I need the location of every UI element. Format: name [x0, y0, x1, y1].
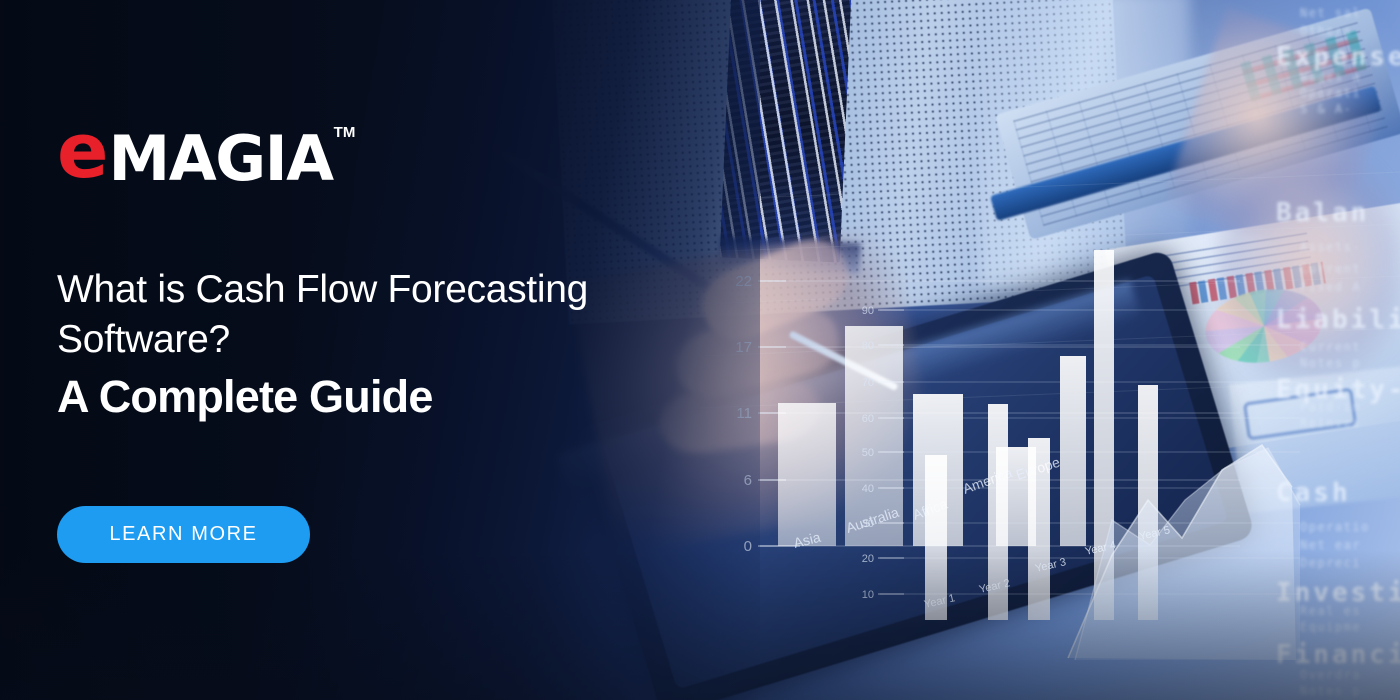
- hero-content: e MAGIA TM What is Cash Flow Forecasting…: [0, 0, 760, 700]
- emagia-logo[interactable]: e MAGIA TM: [57, 118, 355, 191]
- logo-initial-e: e: [57, 118, 108, 183]
- finance-term-0: Net sal: [1300, 6, 1361, 20]
- finance-term-17: Operatio: [1300, 520, 1370, 534]
- finance-term-11: Current: [1300, 340, 1361, 354]
- finance-term-9: Fixed A: [1300, 280, 1361, 294]
- finance-term-12: Notes p: [1300, 356, 1361, 370]
- finance-term-3: Wages a: [1300, 70, 1361, 84]
- page-subtitle: A Complete Guide: [57, 370, 697, 424]
- hero-banner: 22 17 11 6 0 Asia Australia Africa Ameri…: [0, 0, 1400, 700]
- page-title: What is Cash Flow Forecasting Software?: [57, 265, 677, 365]
- finance-term-16: Cash: [1276, 478, 1351, 508]
- learn-more-button[interactable]: LEARN MORE: [57, 506, 310, 563]
- logo-wordmark: MAGIA: [109, 126, 333, 191]
- finance-term-15: Reinves: [1300, 416, 1361, 430]
- finance-term-10: Liabili: [1276, 305, 1400, 335]
- finance-term-6: Balan: [1276, 198, 1369, 228]
- finance-term-1: Others: [1300, 24, 1352, 38]
- finance-term-8: Current: [1300, 262, 1361, 276]
- finance-term-14: Paid-in: [1300, 400, 1361, 414]
- finance-term-7: Assets-: [1300, 240, 1361, 254]
- finance-term-4: Operati: [1300, 86, 1361, 100]
- finance-term-5: S & A-: [1300, 102, 1352, 116]
- finance-term-2: Expenses: [1276, 42, 1400, 72]
- logo-trademark-icon: TM: [334, 124, 356, 141]
